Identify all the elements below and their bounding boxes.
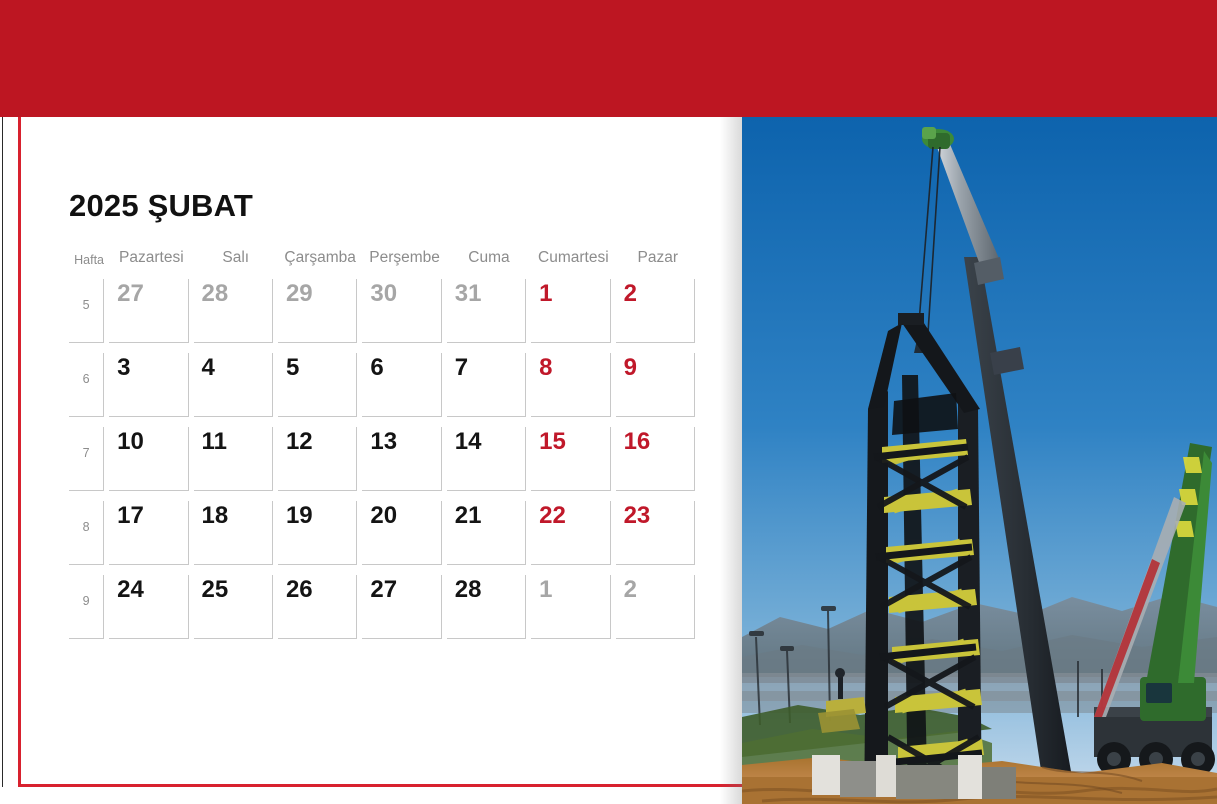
calendar-week-row: 9242526272812 (69, 571, 700, 645)
day-cell[interactable]: 2 (616, 275, 700, 349)
day-number: 15 (539, 429, 566, 454)
day-cell-box: 1 (531, 575, 610, 639)
day-cell[interactable]: 19 (278, 497, 362, 571)
day-cell[interactable]: 1 (531, 571, 615, 645)
day-number: 1 (539, 281, 552, 306)
day-cell-box: 18 (194, 501, 273, 565)
day-cell[interactable]: 7 (447, 349, 531, 423)
day-cell-box: 16 (616, 427, 695, 491)
day-cell-box: 26 (278, 575, 357, 639)
day-cell-box: 3 (109, 353, 188, 417)
day-cell[interactable]: 16 (616, 423, 700, 497)
day-number: 5 (286, 355, 299, 380)
calendar-week-row: 710111213141516 (69, 423, 700, 497)
day-cell[interactable]: 27 (362, 571, 446, 645)
photo-gutter-shadow (720, 117, 742, 804)
day-cell[interactable]: 10 (109, 423, 193, 497)
day-cell[interactable]: 25 (194, 571, 278, 645)
day-cell-box: 15 (531, 427, 610, 491)
day-cell-box: 11 (194, 427, 273, 491)
day-cell-box: 2 (616, 279, 695, 343)
day-cell[interactable]: 20 (362, 497, 446, 571)
day-cell-box: 30 (362, 279, 441, 343)
calendar-block: 2025 ŞUBAT Hafta Pazartesi Salı Çarşamba… (69, 190, 709, 645)
day-number: 8 (539, 355, 552, 380)
day-cell[interactable]: 26 (278, 571, 362, 645)
day-number: 14 (455, 429, 482, 454)
day-cell-box: 22 (531, 501, 610, 565)
top-red-band (0, 0, 1217, 117)
day-cell[interactable]: 15 (531, 423, 615, 497)
day-cell-box: 24 (109, 575, 188, 639)
day-cell-box: 13 (362, 427, 441, 491)
week-number: 9 (83, 594, 90, 608)
day-cell[interactable]: 12 (278, 423, 362, 497)
day-cell-box: 29 (278, 279, 357, 343)
day-number: 30 (370, 281, 397, 306)
day-cell-box: 7 (447, 353, 526, 417)
calendar-week-row: 5272829303112 (69, 275, 700, 349)
day-cell-box: 31 (447, 279, 526, 343)
day-cell[interactable]: 5 (278, 349, 362, 423)
day-cell-box: 9 (616, 353, 695, 417)
day-cell[interactable]: 18 (194, 497, 278, 571)
day-number: 18 (202, 503, 229, 528)
day-cell-box: 17 (109, 501, 188, 565)
day-number: 1 (539, 577, 552, 602)
day-cell-box: 5 (278, 353, 357, 417)
day-number: 27 (370, 577, 397, 602)
day-number: 21 (455, 503, 482, 528)
day-cell[interactable]: 14 (447, 423, 531, 497)
day-cell[interactable]: 24 (109, 571, 193, 645)
day-number: 22 (539, 503, 566, 528)
day-number: 9 (624, 355, 637, 380)
week-number-cell: 6 (69, 349, 109, 423)
month-title: 2025 ŞUBAT (69, 190, 709, 221)
day-cell-box: 10 (109, 427, 188, 491)
day-number: 28 (455, 577, 482, 602)
calendar-week-row: 817181920212223 (69, 497, 700, 571)
day-cell-box: 20 (362, 501, 441, 565)
week-number-cell: 7 (69, 423, 109, 497)
week-number-cell: 9 (69, 571, 109, 645)
day-cell[interactable]: 28 (194, 275, 278, 349)
header-week: Hafta (69, 249, 109, 275)
header-day-cuma: Cuma (447, 249, 531, 275)
day-number: 2 (624, 577, 637, 602)
day-cell[interactable]: 30 (362, 275, 446, 349)
day-cell[interactable]: 29 (278, 275, 362, 349)
calendar-table: Hafta Pazartesi Salı Çarşamba Perşembe C… (69, 249, 700, 645)
week-number-cell: 8 (69, 497, 109, 571)
day-cell-box: 12 (278, 427, 357, 491)
week-number-box: 8 (69, 501, 104, 565)
frame-left-rule (18, 117, 21, 787)
day-number: 28 (202, 281, 229, 306)
day-number: 23 (624, 503, 651, 528)
day-cell[interactable]: 1 (531, 275, 615, 349)
page-edge-line (2, 117, 3, 787)
header-day-pazartesi: Pazartesi (109, 249, 193, 275)
day-cell-box: 28 (447, 575, 526, 639)
day-cell[interactable]: 22 (531, 497, 615, 571)
week-number-cell: 5 (69, 275, 109, 349)
day-cell-box: 21 (447, 501, 526, 565)
day-number: 31 (455, 281, 482, 306)
day-cell[interactable]: 31 (447, 275, 531, 349)
day-number: 11 (202, 429, 227, 454)
header-day-cumartesi: Cumartesi (531, 249, 615, 275)
day-number: 24 (117, 577, 144, 602)
day-number: 3 (117, 355, 130, 380)
day-cell-box: 6 (362, 353, 441, 417)
day-number: 12 (286, 429, 313, 454)
header-day-carsamba: Çarşamba (278, 249, 362, 275)
day-cell[interactable]: 11 (194, 423, 278, 497)
day-number: 26 (286, 577, 313, 602)
day-number: 20 (370, 503, 397, 528)
day-cell[interactable]: 4 (194, 349, 278, 423)
header-day-persembe: Perşembe (362, 249, 446, 275)
day-number: 7 (455, 355, 468, 380)
day-cell[interactable]: 28 (447, 571, 531, 645)
day-cell[interactable]: 3 (109, 349, 193, 423)
day-cell-box: 23 (616, 501, 695, 565)
day-number: 13 (370, 429, 397, 454)
day-cell[interactable]: 2 (616, 571, 700, 645)
calendar-header-row: Hafta Pazartesi Salı Çarşamba Perşembe C… (69, 249, 700, 275)
calendar-page: 2025 ŞUBAT Hafta Pazartesi Salı Çarşamba… (0, 0, 1217, 804)
day-cell-box: 27 (362, 575, 441, 639)
day-cell-box: 4 (194, 353, 273, 417)
day-cell[interactable]: 13 (362, 423, 446, 497)
calendar-body: 5272829303112634567897101112131415168171… (69, 275, 700, 645)
day-cell[interactable]: 8 (531, 349, 615, 423)
day-cell[interactable]: 9 (616, 349, 700, 423)
day-cell-box: 28 (194, 279, 273, 343)
day-number: 17 (117, 503, 144, 528)
day-cell-box: 8 (531, 353, 610, 417)
week-number: 7 (83, 446, 90, 460)
day-cell[interactable]: 6 (362, 349, 446, 423)
header-day-sali: Salı (194, 249, 278, 275)
week-number-box: 6 (69, 353, 104, 417)
header-day-pazar: Pazar (616, 249, 700, 275)
week-number: 8 (83, 520, 90, 534)
day-cell-box: 19 (278, 501, 357, 565)
day-cell-box: 27 (109, 279, 188, 343)
day-number: 27 (117, 281, 144, 306)
day-number: 10 (117, 429, 144, 454)
calendar-week-row: 63456789 (69, 349, 700, 423)
week-number-box: 5 (69, 279, 104, 343)
day-number: 29 (286, 281, 313, 306)
day-cell-box: 25 (194, 575, 273, 639)
day-number: 6 (370, 355, 383, 380)
week-number: 6 (83, 372, 90, 386)
day-number: 19 (286, 503, 313, 528)
week-number-box: 7 (69, 427, 104, 491)
day-number: 25 (202, 577, 229, 602)
day-cell-box: 1 (531, 279, 610, 343)
day-cell-box: 14 (447, 427, 526, 491)
day-number: 2 (624, 281, 637, 306)
day-cell[interactable]: 27 (109, 275, 193, 349)
day-cell[interactable]: 21 (447, 497, 531, 571)
week-number: 5 (83, 298, 90, 312)
construction-photo (742, 117, 1217, 804)
day-cell[interactable]: 23 (616, 497, 700, 571)
day-cell[interactable]: 17 (109, 497, 193, 571)
day-number: 4 (202, 355, 215, 380)
day-cell-box: 2 (616, 575, 695, 639)
week-number-box: 9 (69, 575, 104, 639)
day-number: 16 (624, 429, 651, 454)
